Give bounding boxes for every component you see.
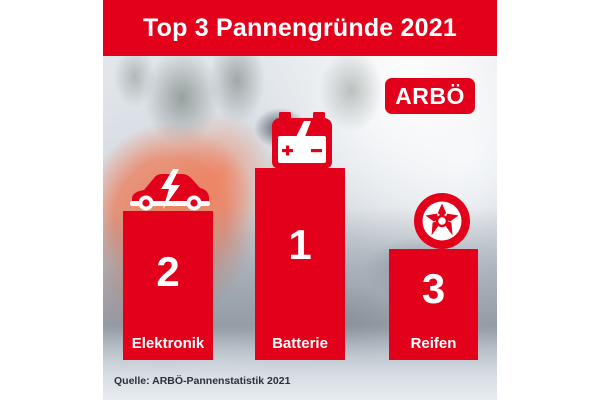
source-caption: Quelle: ARBÖ-Pannenstatistik 2021 bbox=[114, 375, 290, 387]
bar-label-reifen: Reifen bbox=[411, 336, 457, 351]
page-title: Top 3 Pannengründe 2021 bbox=[143, 14, 457, 43]
bar-label-batterie: Batterie bbox=[272, 336, 328, 351]
car-lightning-icon bbox=[128, 168, 212, 212]
bar-rank-reifen: 3 bbox=[422, 268, 445, 310]
title-band: Top 3 Pannengründe 2021 bbox=[103, 0, 497, 56]
bar-elektronik: 2 Elektronik bbox=[123, 211, 213, 360]
arbo-logo-text: ARBÖ bbox=[395, 85, 465, 108]
arbo-logo: ARBÖ bbox=[385, 78, 475, 114]
tire-wheel-icon bbox=[412, 192, 472, 250]
bar-reifen: 3 Reifen bbox=[389, 249, 478, 360]
bar-batterie: 1 Batterie bbox=[255, 168, 345, 360]
car-battery-icon bbox=[268, 112, 336, 170]
bar-label-elektronik: Elektronik bbox=[132, 336, 205, 351]
bar-rank-elektronik: 2 bbox=[156, 251, 179, 293]
infographic-canvas: Top 3 Pannengründe 2021 ARBÖ bbox=[0, 0, 600, 400]
bar-rank-batterie: 1 bbox=[288, 224, 311, 266]
